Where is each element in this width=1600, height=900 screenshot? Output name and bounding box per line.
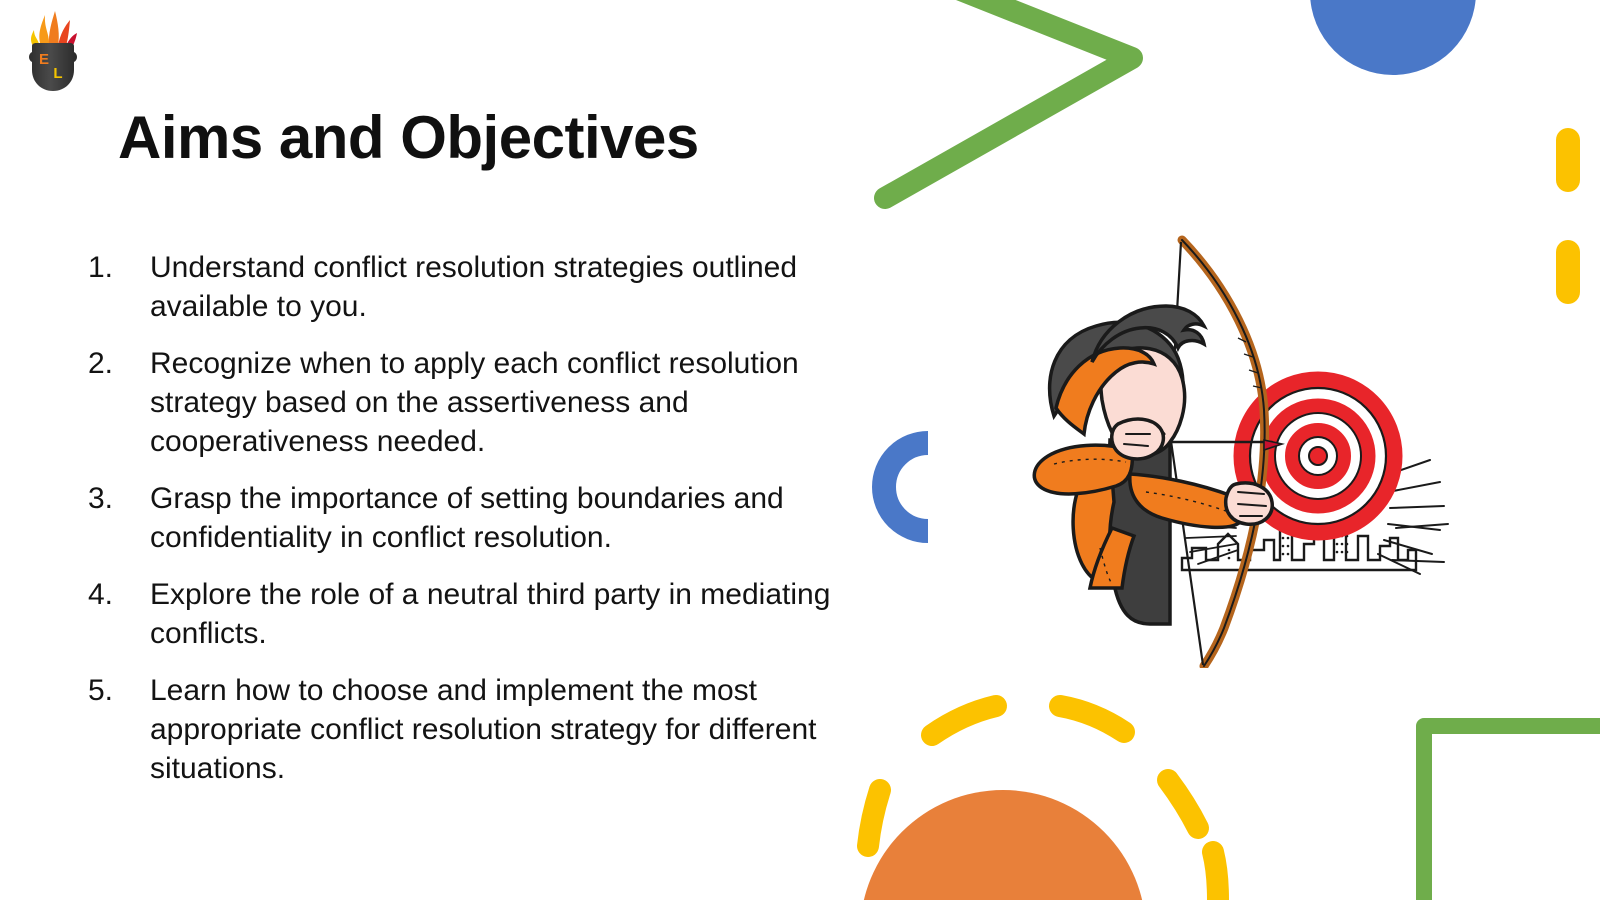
flame-icon	[31, 11, 77, 46]
arrow-icon	[1167, 440, 1282, 450]
list-item-number: 4.	[88, 575, 150, 614]
list-item: 5. Learn how to choose and implement the…	[88, 671, 888, 788]
yellow-dash-arc	[868, 706, 1218, 900]
blue-circle	[1310, 0, 1476, 75]
logo-letter-e: E	[39, 51, 49, 68]
objectives-list: 1. Understand conflict resolution strate…	[88, 248, 888, 806]
list-item-number: 3.	[88, 479, 150, 518]
blue-c-arc	[884, 443, 928, 531]
list-item-number: 5.	[88, 671, 150, 710]
list-item-text: Grasp the importance of setting boundari…	[150, 479, 888, 557]
list-item: 4. Explore the role of a neutral third p…	[88, 575, 888, 653]
logo-letter-l: L	[53, 65, 62, 82]
list-item-text: Recognize when to apply each conflict re…	[150, 344, 888, 461]
green-triangle-outline	[885, 0, 1132, 198]
draw-hand	[1112, 419, 1164, 459]
page-title: Aims and Objectives	[118, 106, 699, 169]
yellow-dash	[1556, 128, 1580, 304]
list-item-number: 2.	[88, 344, 150, 383]
slide-canvas: E L Aims and Objectives 1. Understand co…	[0, 0, 1600, 900]
green-square-corner	[1424, 726, 1600, 900]
list-item: 3. Grasp the importance of setting bound…	[88, 479, 888, 557]
list-item-text: Explore the role of a neutral third part…	[150, 575, 888, 653]
archer-illustration	[992, 228, 1462, 668]
orange-circle	[860, 790, 1146, 900]
list-item: 2. Recognize when to apply each conflict…	[88, 344, 888, 461]
bow-hand	[1226, 483, 1273, 524]
list-item-number: 1.	[88, 248, 150, 287]
list-item-text: Learn how to choose and implement the mo…	[150, 671, 888, 788]
list-item: 1. Understand conflict resolution strate…	[88, 248, 888, 326]
list-item-text: Understand conflict resolution strategie…	[150, 248, 888, 326]
e-l-flame-logo[interactable]: E L	[22, 6, 84, 96]
